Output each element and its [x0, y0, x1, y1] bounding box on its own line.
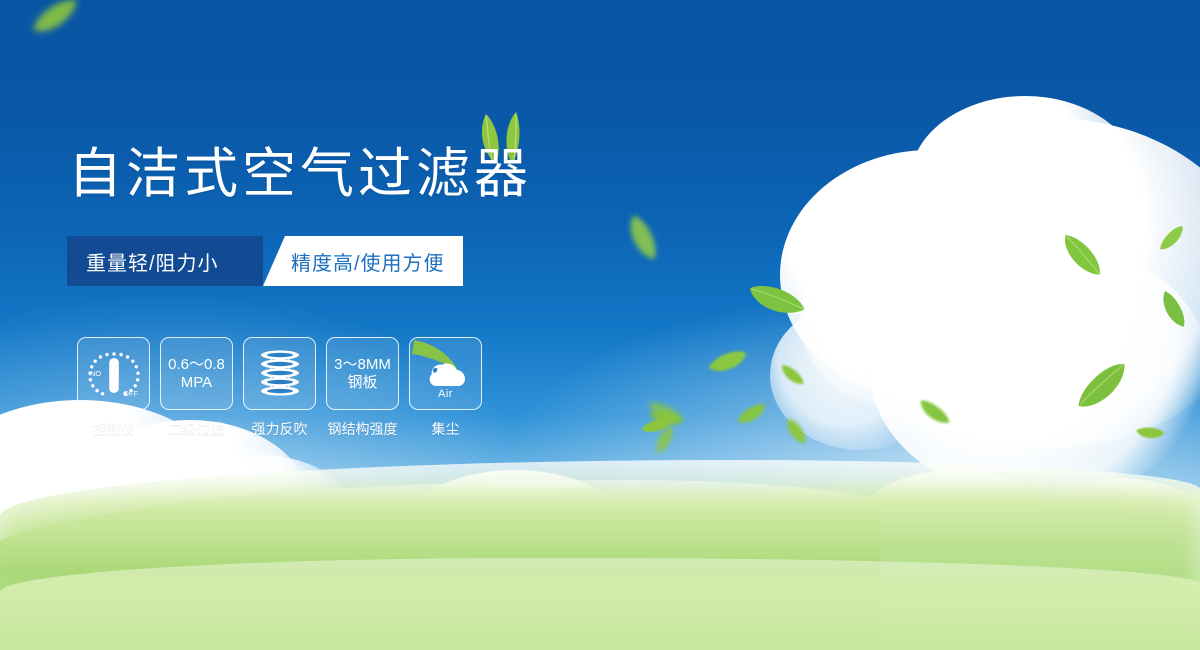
floating-leaf-icon: [914, 393, 953, 432]
floating-leaf-icon: [1134, 423, 1166, 444]
filter-cartridge-icon: [243, 337, 316, 410]
feature-item-controller[interactable]: NO OFF 控制仪: [77, 337, 150, 439]
floating-leaf-icon: [1055, 226, 1108, 287]
pressure-value-line1: 0.6〜0.8: [168, 356, 225, 374]
feature-label: 钢结构强度: [328, 419, 398, 439]
feature-item-two-stage-filter[interactable]: 0.6〜0.8 MPA 二级过滤: [160, 337, 233, 439]
floating-leaf-icon: [777, 359, 807, 391]
tagline-left-half: 重量轻/阻力小: [67, 236, 263, 286]
pressure-text-icon: 0.6〜0.8 MPA: [160, 337, 233, 410]
floating-leaf-icon: [1154, 222, 1190, 255]
floating-leaf-icon: [704, 347, 752, 377]
svg-text:NO: NO: [90, 369, 101, 378]
cloud-shape: [780, 150, 1080, 400]
cloud-air-icon: Air: [409, 337, 482, 410]
feature-item-steel-structure[interactable]: 3〜8MM 钢板 钢结构强度: [326, 337, 399, 439]
steel-value-line2: 钢板: [334, 374, 391, 392]
cloud-shape: [770, 300, 950, 450]
feature-label: 强力反吹: [252, 419, 308, 439]
steel-plate-text-icon: 3〜8MM 钢板: [326, 337, 399, 410]
cloud-shape: [800, 230, 1010, 410]
feature-item-dust-collection[interactable]: Air 集尘: [409, 337, 482, 439]
svg-text:OFF: OFF: [123, 389, 138, 398]
feature-label: 集尘: [432, 419, 460, 439]
floating-leaf-icon: [733, 400, 771, 428]
gauge-dial-icon: NO OFF: [77, 337, 150, 410]
pressure-value-line2: MPA: [168, 374, 225, 392]
tagline-left-text: 重量轻/阻力小: [86, 247, 219, 276]
floating-leaf-icon: [646, 405, 685, 431]
cloud-shape: [910, 96, 1140, 266]
floating-leaf-icon: [1067, 355, 1138, 418]
tagline-right-half: 精度高/使用方便: [263, 236, 463, 286]
cloud-shape: [870, 240, 1200, 500]
floating-leaf-icon: [643, 394, 686, 431]
product-banner: 自洁式空气过滤器 重量轻/阻力小 精度高/使用方便: [0, 0, 1200, 650]
steel-value-line1: 3〜8MM: [334, 356, 391, 374]
floating-leaf-icon: [25, 0, 87, 42]
floating-leaf-icon: [742, 273, 811, 329]
floating-leaf-icon: [650, 421, 681, 458]
cloud-shape: [840, 118, 1200, 448]
feature-list: NO OFF 控制仪 0.6〜0.8 MPA 二级过滤: [77, 337, 482, 439]
tagline-badge: 重量轻/阻力小 精度高/使用方便: [67, 236, 463, 286]
grass-foreground: [0, 558, 1200, 650]
tagline-right-text: 精度高/使用方便: [291, 247, 445, 276]
feature-label: 二级过滤: [169, 419, 225, 439]
feature-label: 控制仪: [93, 419, 135, 439]
air-label: Air: [410, 388, 481, 400]
floating-leaf-icon: [782, 414, 810, 449]
feature-item-blowback[interactable]: 强力反吹: [243, 337, 316, 439]
page-title: 自洁式空气过滤器: [68, 147, 532, 201]
floating-leaf-icon: [639, 415, 675, 437]
floating-leaf-icon: [1156, 286, 1189, 332]
floating-leaf-icon: [623, 210, 662, 267]
